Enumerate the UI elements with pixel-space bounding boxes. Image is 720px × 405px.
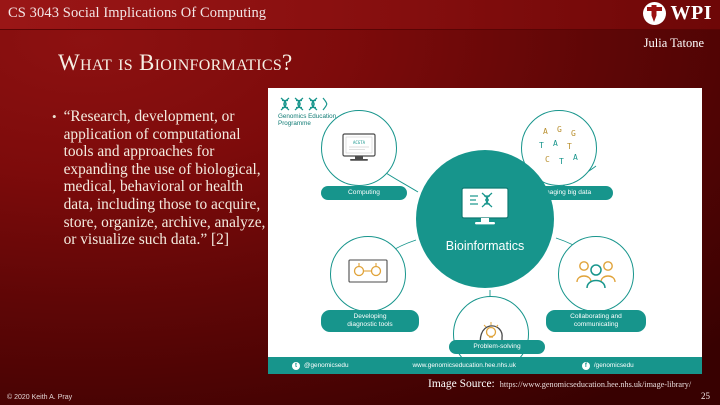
page-number: 25 [701,391,710,401]
bullet-list: • “Research, development, or application… [52,108,270,249]
wpi-logo: WPI [643,2,713,25]
bullet-text: “Research, development, or application o… [64,108,270,249]
facebook-handle: f /genomicsedu [582,362,634,370]
twitter-handle-text: @genomicsedu [304,362,349,369]
wpi-shield-icon [643,2,666,25]
svg-text:ACGTA: ACGTA [353,140,366,145]
node-collaborating [558,236,634,312]
svg-text:T: T [567,142,572,151]
node-label-collaborating: Collaborating and communicating [546,310,646,332]
page-title: What is Bioinformatics? [58,50,293,76]
website-url-text: www.genomicseducation.hee.nhs.uk [413,362,516,369]
image-source-url: https://www.genomicseducation.hee.nhs.uk… [500,380,691,389]
svg-text:G: G [571,129,576,138]
facebook-icon: f [582,362,590,370]
svg-text:A: A [573,153,578,162]
image-source-label: Image Source: [428,378,495,390]
copyright-notice: © 2020 Keith A. Pray [7,394,72,401]
letters-acgt-icon: AGG TAT CTA [533,124,585,172]
node-label-problem-solving: Problem-solving [449,340,545,354]
three-people-icon [574,256,618,292]
twitter-icon: t [292,362,300,370]
image-source-caption: Image Source: https://www.genomicseducat… [428,378,691,390]
svg-text:A: A [553,139,558,148]
center-node-bioinformatics: Bioinformatics [416,150,554,288]
diagram-canvas: Genomics Education Programme ACGTA [268,88,702,374]
diagram-image: Genomics Education Programme ACGTA [268,88,702,374]
microscope-icon [345,255,391,293]
slide-canvas: CS 3043 Social Implications Of Computing… [0,0,720,405]
twitter-handle: t @genomicsedu [292,362,349,370]
node-label-developing-tools: Developing diagnostic tools [321,310,419,332]
svg-text:G: G [557,125,562,134]
node-computing: ACGTA [321,110,397,186]
facebook-handle-text: /genomicsedu [594,362,634,369]
monitor-dna-icon [458,186,512,230]
node-developing-tools [330,236,406,312]
svg-text:T: T [559,157,564,166]
author-name: Julia Tatone [644,36,704,51]
course-title: CS 3043 Social Implications Of Computing [8,5,266,22]
node-label-computing: Computing [321,186,407,200]
center-node-label: Bioinformatics [446,239,525,253]
bullet-marker: • [52,108,57,249]
diagram-footer: t @genomicsedu www.genomicseducation.hee… [268,357,702,374]
computer-screen-icon: ACGTA [339,131,379,165]
wpi-logo-text: WPI [671,2,713,25]
svg-text:A: A [543,127,548,136]
svg-text:C: C [545,155,550,164]
svg-text:T: T [539,141,544,150]
website-url: www.genomicseducation.hee.nhs.uk [413,362,516,369]
slide-header-bar: CS 3043 Social Implications Of Computing… [0,0,720,30]
